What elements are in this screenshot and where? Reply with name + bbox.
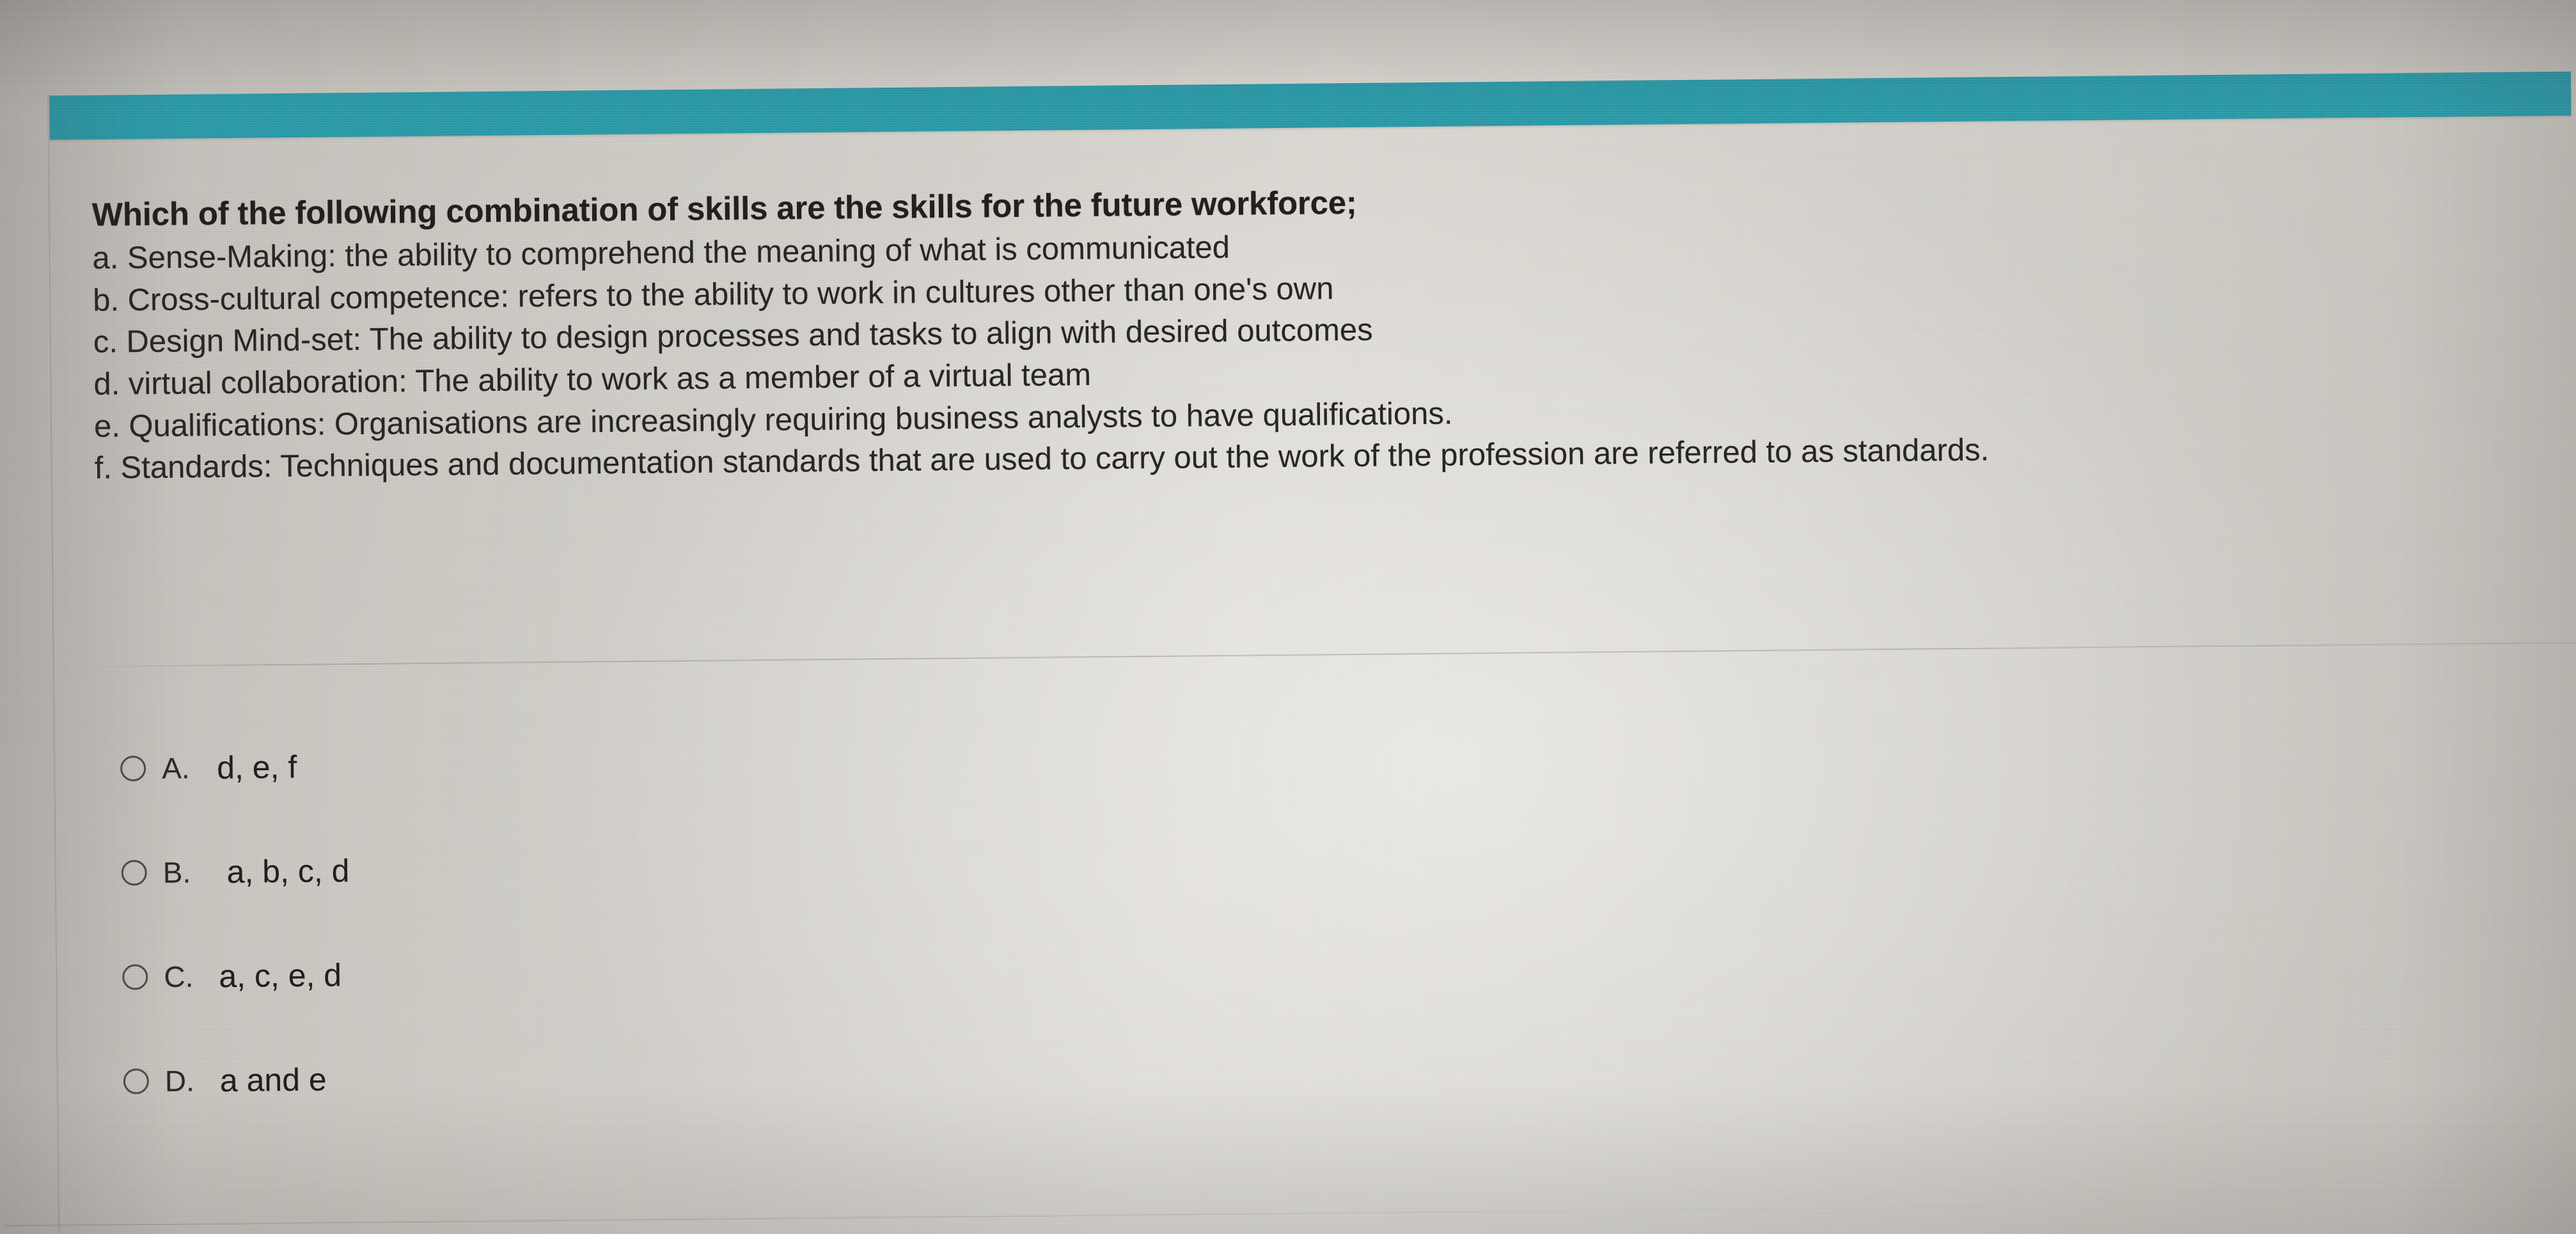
answer-options-group: A. d, e, f B. a, b, c, d C. a, c, e, d D… — [120, 732, 1019, 1157]
bottom-divider — [6, 1201, 2576, 1227]
option-row-b[interactable]: B. a, b, c, d — [121, 836, 1017, 901]
option-letter-d: D. — [165, 1063, 221, 1098]
accent-header-bar — [49, 72, 2571, 140]
option-letter-c: C. — [164, 959, 219, 994]
radio-unchecked-icon[interactable] — [122, 964, 148, 990]
question-block: Which of the following combination of sk… — [92, 173, 2544, 490]
option-text-c: a, c, e, d — [219, 956, 342, 995]
photographed-screen: Which of the following combination of sk… — [0, 0, 2576, 1234]
option-letter-b: B. — [162, 855, 218, 890]
option-row-c[interactable]: C. a, c, e, d — [122, 940, 1018, 1005]
option-row-a[interactable]: A. d, e, f — [120, 732, 1016, 796]
option-letter-a: A. — [162, 750, 217, 786]
quiz-content-root: Which of the following combination of sk… — [0, 0, 2576, 1234]
radio-unchecked-icon[interactable] — [120, 755, 146, 781]
option-text-d: a and e — [220, 1061, 327, 1099]
radio-unchecked-icon[interactable] — [122, 860, 147, 885]
section-divider — [98, 642, 2576, 667]
radio-unchecked-icon[interactable] — [123, 1068, 149, 1094]
card-left-edge — [47, 95, 59, 1234]
option-row-d[interactable]: D. a and e — [123, 1045, 1019, 1109]
option-text-b: a, b, c, d — [217, 852, 349, 890]
option-text-a: d, e, f — [217, 748, 297, 786]
